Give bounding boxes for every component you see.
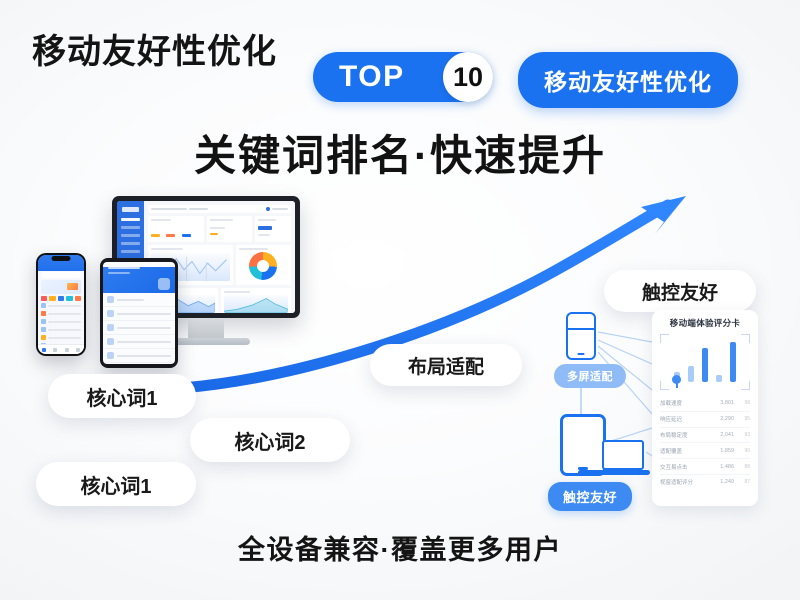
row-value: 2,290 [714,416,734,422]
top-rank-badge: TOP 10 [313,52,493,102]
card-line [210,227,226,229]
dashboard-card-row [148,216,291,242]
list-item [41,319,81,324]
row-value: 1,486 [714,464,734,470]
topbar-placeholder [189,208,208,210]
monitor-stand [188,318,224,338]
device-compatibility-diagram: 多屏适配 触控友好 移动端体验评分卡 加载速度 [546,302,760,520]
score-card: 移动端体验评分卡 加载速度 3,801 98 [652,310,758,506]
table-row: 适配覆盖 1,859 90 [660,443,750,459]
table-row: 加载速度 3,801 98 [660,396,750,412]
dashboard-nav-item [121,226,140,229]
card-line [210,219,234,221]
keyword-pill-3[interactable]: 核心词1 [36,462,196,506]
card-line [258,219,276,221]
card-line [258,226,271,230]
phone-quick-icons [38,296,84,301]
tablet-screen [103,262,175,364]
bar [702,348,708,382]
topbar-placeholder [272,208,288,210]
dashboard-nav-item [121,234,140,237]
row-value: 3,801 [714,400,734,406]
row-value: 2,041 [714,432,734,438]
card-line [151,219,171,221]
phone-notch [52,256,71,261]
chart-marker-icon [672,375,681,384]
list-item [103,307,175,321]
dashboard-nav-item [121,242,140,245]
dashboard-nav-item [121,218,140,221]
tablet-hero-icon [158,278,170,290]
keyword-pill-2[interactable]: 核心词2 [190,418,350,462]
list-item [103,321,175,335]
card-line [224,291,250,293]
small-phone-icon [566,312,596,360]
list-item [41,303,81,308]
page-kicker: 移动友好性优化 [32,24,277,73]
list-item [103,349,175,363]
diagram-tag-touch: 触控友好 [548,482,632,511]
dashboard-nav-item [121,250,140,253]
laptop-base-icon [578,470,650,475]
footer-tagline: 全设备兼容·覆盖更多用户 [0,528,800,567]
dashboard-card [255,216,291,242]
score-card-title: 移动端体验评分卡 [660,317,750,329]
banner-card-icon [67,283,78,290]
row-label: 视窗适配评分 [660,478,710,486]
bar-chart [670,338,740,382]
table-row: 视窗适配评分 1,249 87 [660,475,750,490]
card-line [258,234,270,236]
row-score: 95 [738,416,750,422]
phone-tab-bar [38,344,84,354]
large-phone-icon [560,414,606,476]
list-item [103,335,175,349]
tablet-mockup [100,258,178,368]
laptop-icon [602,440,644,470]
dashboard-card [148,216,204,242]
list-item [41,327,81,332]
tablet-hero-banner [103,267,175,293]
topbar-dot-icon [266,207,270,211]
list-item [103,293,175,307]
row-value: 1,249 [714,479,734,485]
score-card-chart [660,334,750,390]
list-item [103,363,175,364]
diagram-tag-multiscreen: 多屏适配 [554,364,626,388]
row-score: 93 [738,432,750,438]
card-line [151,248,183,250]
row-value: 1,859 [714,448,734,454]
dashboard-card [207,216,253,242]
phone-search-bar [41,272,81,278]
row-label: 布局稳定度 [660,431,710,439]
bar [688,366,694,382]
area-chart [224,295,288,313]
table-row: 响应延迟 2,290 95 [660,412,750,428]
table-row: 交互易点击 1,486 88 [660,459,750,475]
row-score: 90 [738,448,750,454]
dashboard-topbar [148,205,291,213]
row-label: 响应延迟 [660,415,710,423]
tablet-bezel [100,258,178,368]
top-badge-word: TOP [339,60,405,94]
bar [716,375,722,382]
list-item [41,335,81,340]
hero-tag-pill: 移动友好性优化 [518,52,738,108]
row-score: 98 [738,400,750,406]
phone-screen [38,255,84,354]
table-row: 布局稳定度 2,041 93 [660,428,750,444]
keyword-pill-1[interactable]: 核心词1 [48,374,196,418]
list-item [41,311,81,316]
poster-canvas: 移动友好性优化 TOP 10 移动友好性优化 关键词排名·快速提升 [0,0,800,600]
row-score: 87 [738,479,750,485]
phone-banner [41,280,81,294]
bar [730,342,736,382]
dashboard-chart-card [221,288,291,313]
donut-chart [249,252,277,280]
row-label: 加载速度 [660,399,710,407]
card-line [210,233,219,235]
top-badge-number: 10 [443,52,493,102]
topbar-placeholder [151,208,187,210]
phone-mockup [36,253,86,356]
dashboard-donut-card [236,245,291,285]
phone-bezel [36,253,86,356]
row-label: 交互易点击 [660,463,710,471]
stage-pill-layout[interactable]: 布局适配 [370,344,522,386]
row-label: 适配覆盖 [660,447,710,455]
page-headline: 关键词排名·快速提升 [0,122,800,183]
score-row-list: 加载速度 3,801 98 响应延迟 2,290 95 布局稳定度 2,041 … [660,396,750,490]
row-score: 88 [738,464,750,470]
card-line [239,248,269,250]
dashboard-logo [122,207,139,212]
